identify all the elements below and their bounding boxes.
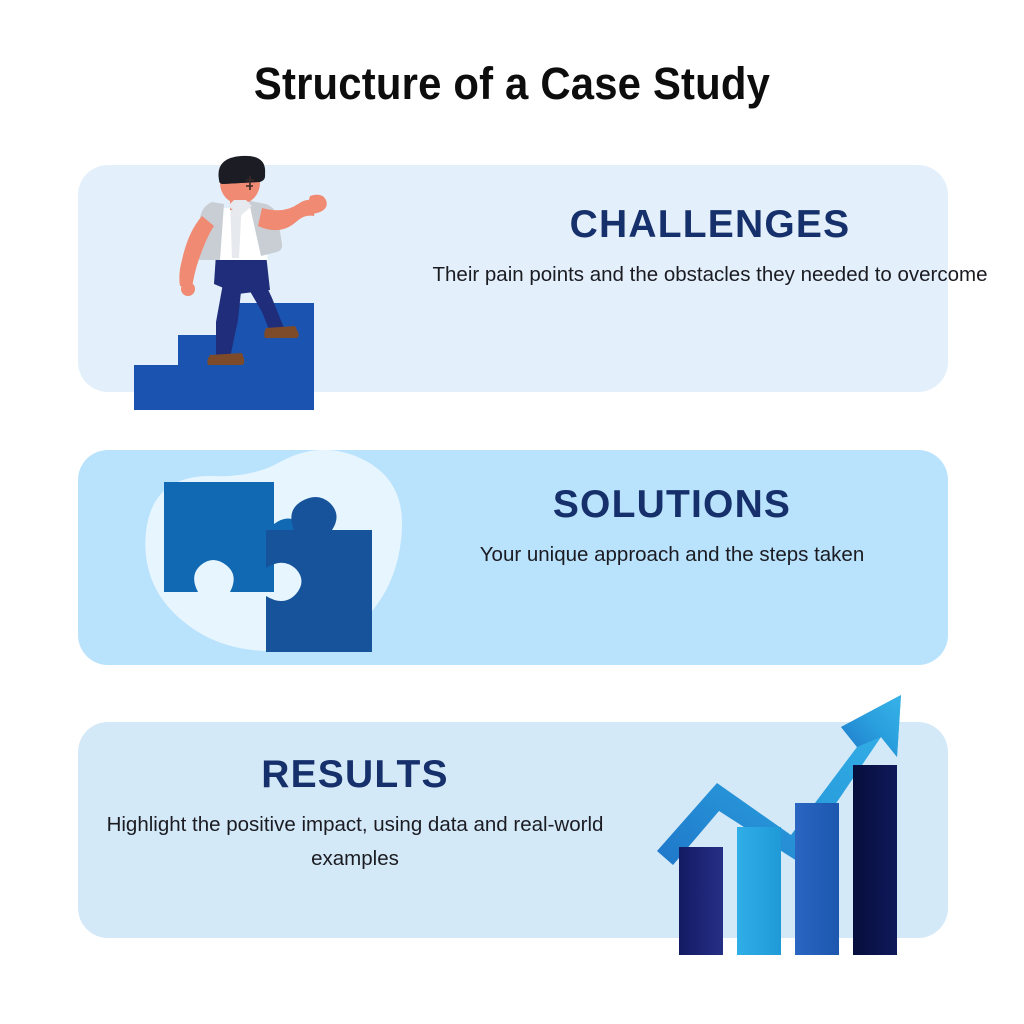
section-results-text: RESULTS Highlight the positive impact, u… xyxy=(75,755,635,877)
section-solutions-text: SOLUTIONS Your unique approach and the s… xyxy=(392,485,952,572)
puzzle-pieces-icon xyxy=(118,440,428,680)
section-challenges-text: CHALLENGES Their pain points and the obs… xyxy=(430,205,990,292)
person-climbing-stairs-icon xyxy=(120,150,360,410)
section-challenges-subtext: Their pain points and the obstacles they… xyxy=(430,258,990,292)
section-results-subtext: Highlight the positive impact, using dat… xyxy=(75,808,635,877)
growth-chart-icon xyxy=(645,685,955,965)
page-title: Structure of a Case Study xyxy=(36,58,988,110)
section-solutions-heading: SOLUTIONS xyxy=(392,485,952,524)
infographic-canvas: Structure of a Case Study xyxy=(0,0,1024,1024)
section-solutions-subtext: Your unique approach and the steps taken xyxy=(392,538,952,572)
section-results-heading: RESULTS xyxy=(75,755,635,794)
section-challenges-heading: CHALLENGES xyxy=(430,205,990,244)
